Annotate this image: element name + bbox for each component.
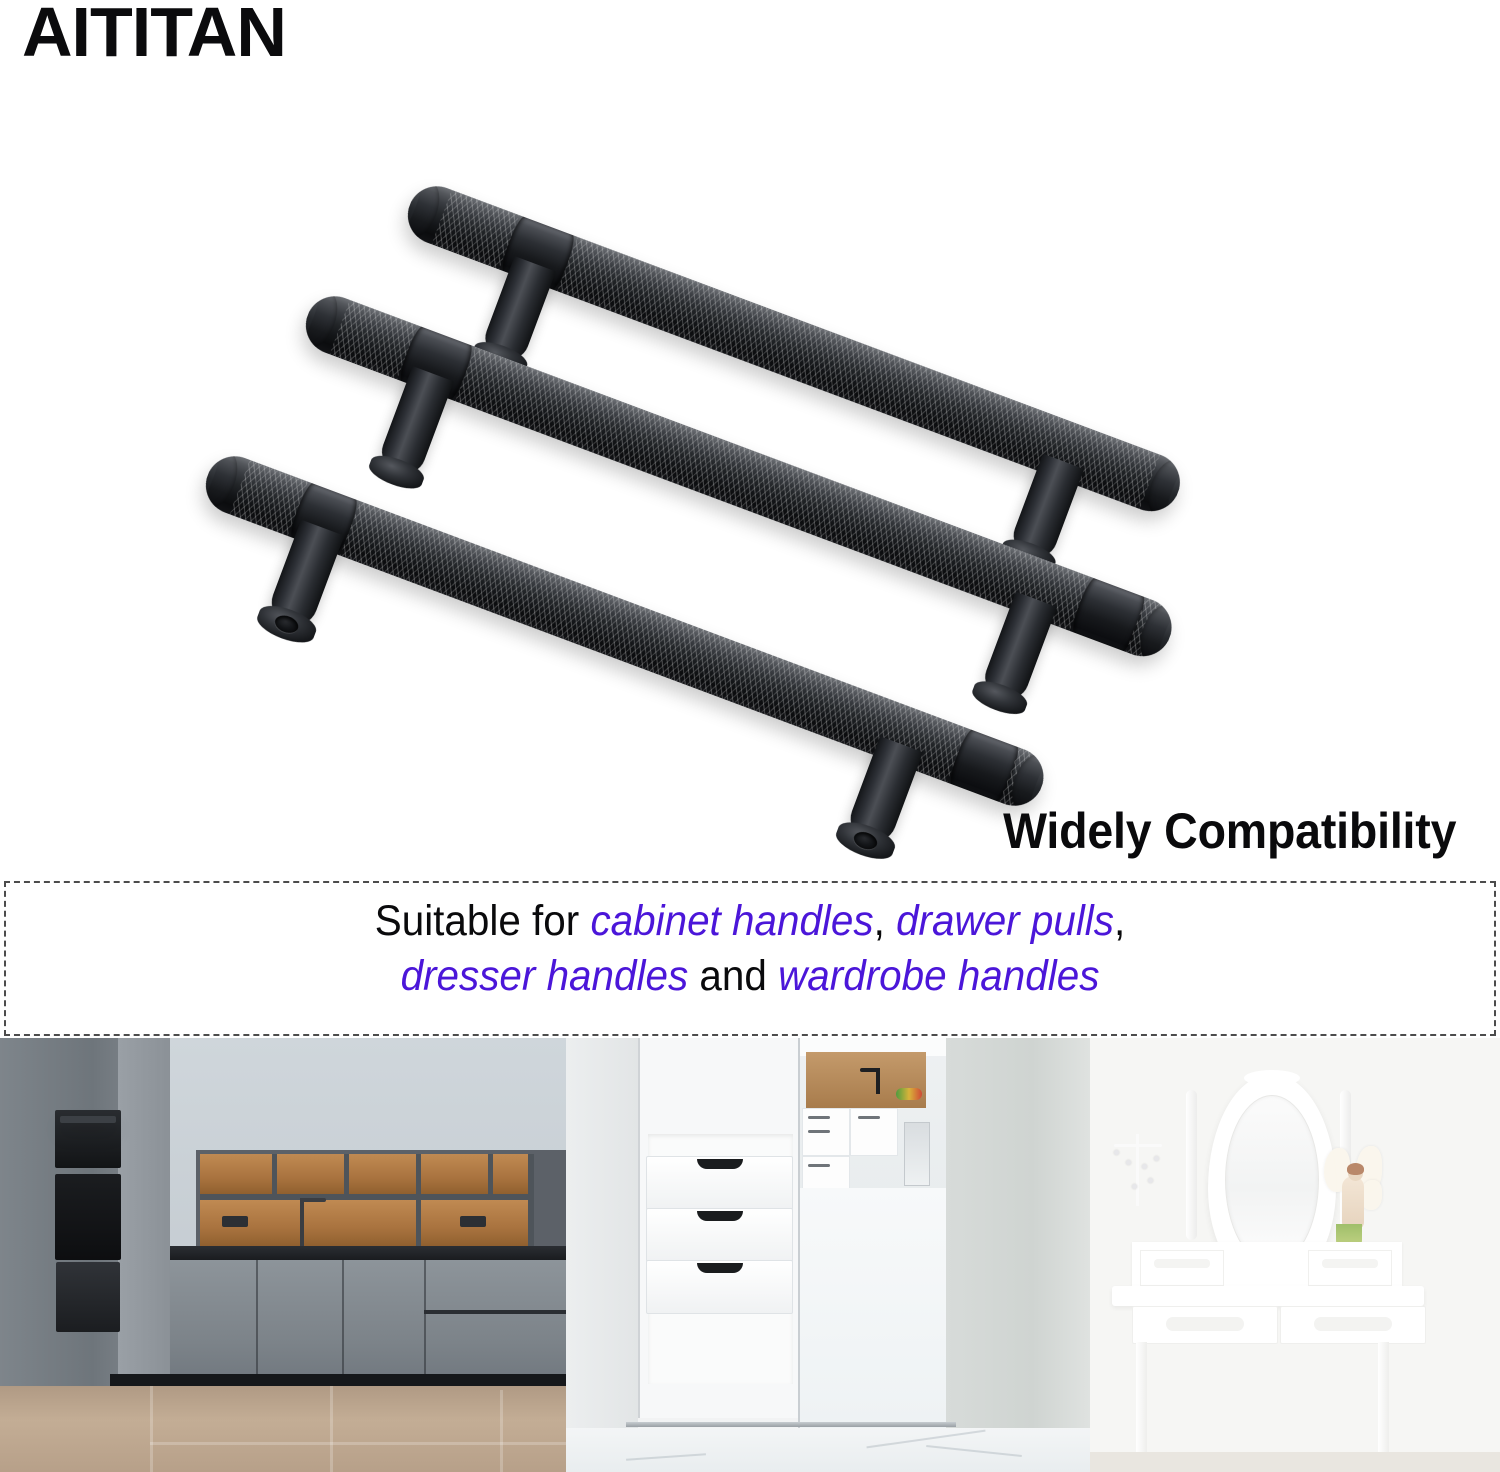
suitable-prefix: Suitable for <box>375 897 591 945</box>
use-wardrobe-handles: wardrobe handles <box>778 952 1099 1000</box>
use-dresser-handles: dresser handles <box>401 952 689 1000</box>
handle-large <box>218 448 1061 763</box>
use-drawer-pulls: drawer pulls <box>896 897 1114 945</box>
lifestyle-photo-strip <box>0 1038 1500 1472</box>
product-hero <box>0 0 1500 900</box>
compatibility-text: Suitable for cabinet handles, drawer pul… <box>51 894 1450 1004</box>
screw-hole <box>851 829 879 852</box>
screw-hole <box>273 613 301 636</box>
use-cabinet-handles: cabinet handles <box>590 897 873 945</box>
handle-mounting-post-left <box>255 518 349 648</box>
conjunction-and: and <box>688 952 778 1000</box>
handle-mounting-post-left <box>368 365 458 494</box>
photo-white-vanity-dresser <box>1090 1038 1500 1472</box>
separator-2: , <box>1114 897 1125 945</box>
handle-mounting-post-right <box>971 590 1061 719</box>
separator-1: , <box>874 897 896 945</box>
headline: Widely Compatibility <box>1003 806 1456 856</box>
compatibility-line-1: Suitable for cabinet handles, drawer pul… <box>51 894 1450 949</box>
handle-mounting-post-right <box>834 734 928 864</box>
compatibility-line-2: dresser handles and wardrobe handles <box>51 949 1450 1004</box>
photo-grey-modern-kitchen <box>0 1038 566 1472</box>
compatibility-callout: Suitable for cabinet handles, drawer pul… <box>4 881 1496 1036</box>
photo-white-wardrobe-mirror <box>566 1038 1090 1472</box>
